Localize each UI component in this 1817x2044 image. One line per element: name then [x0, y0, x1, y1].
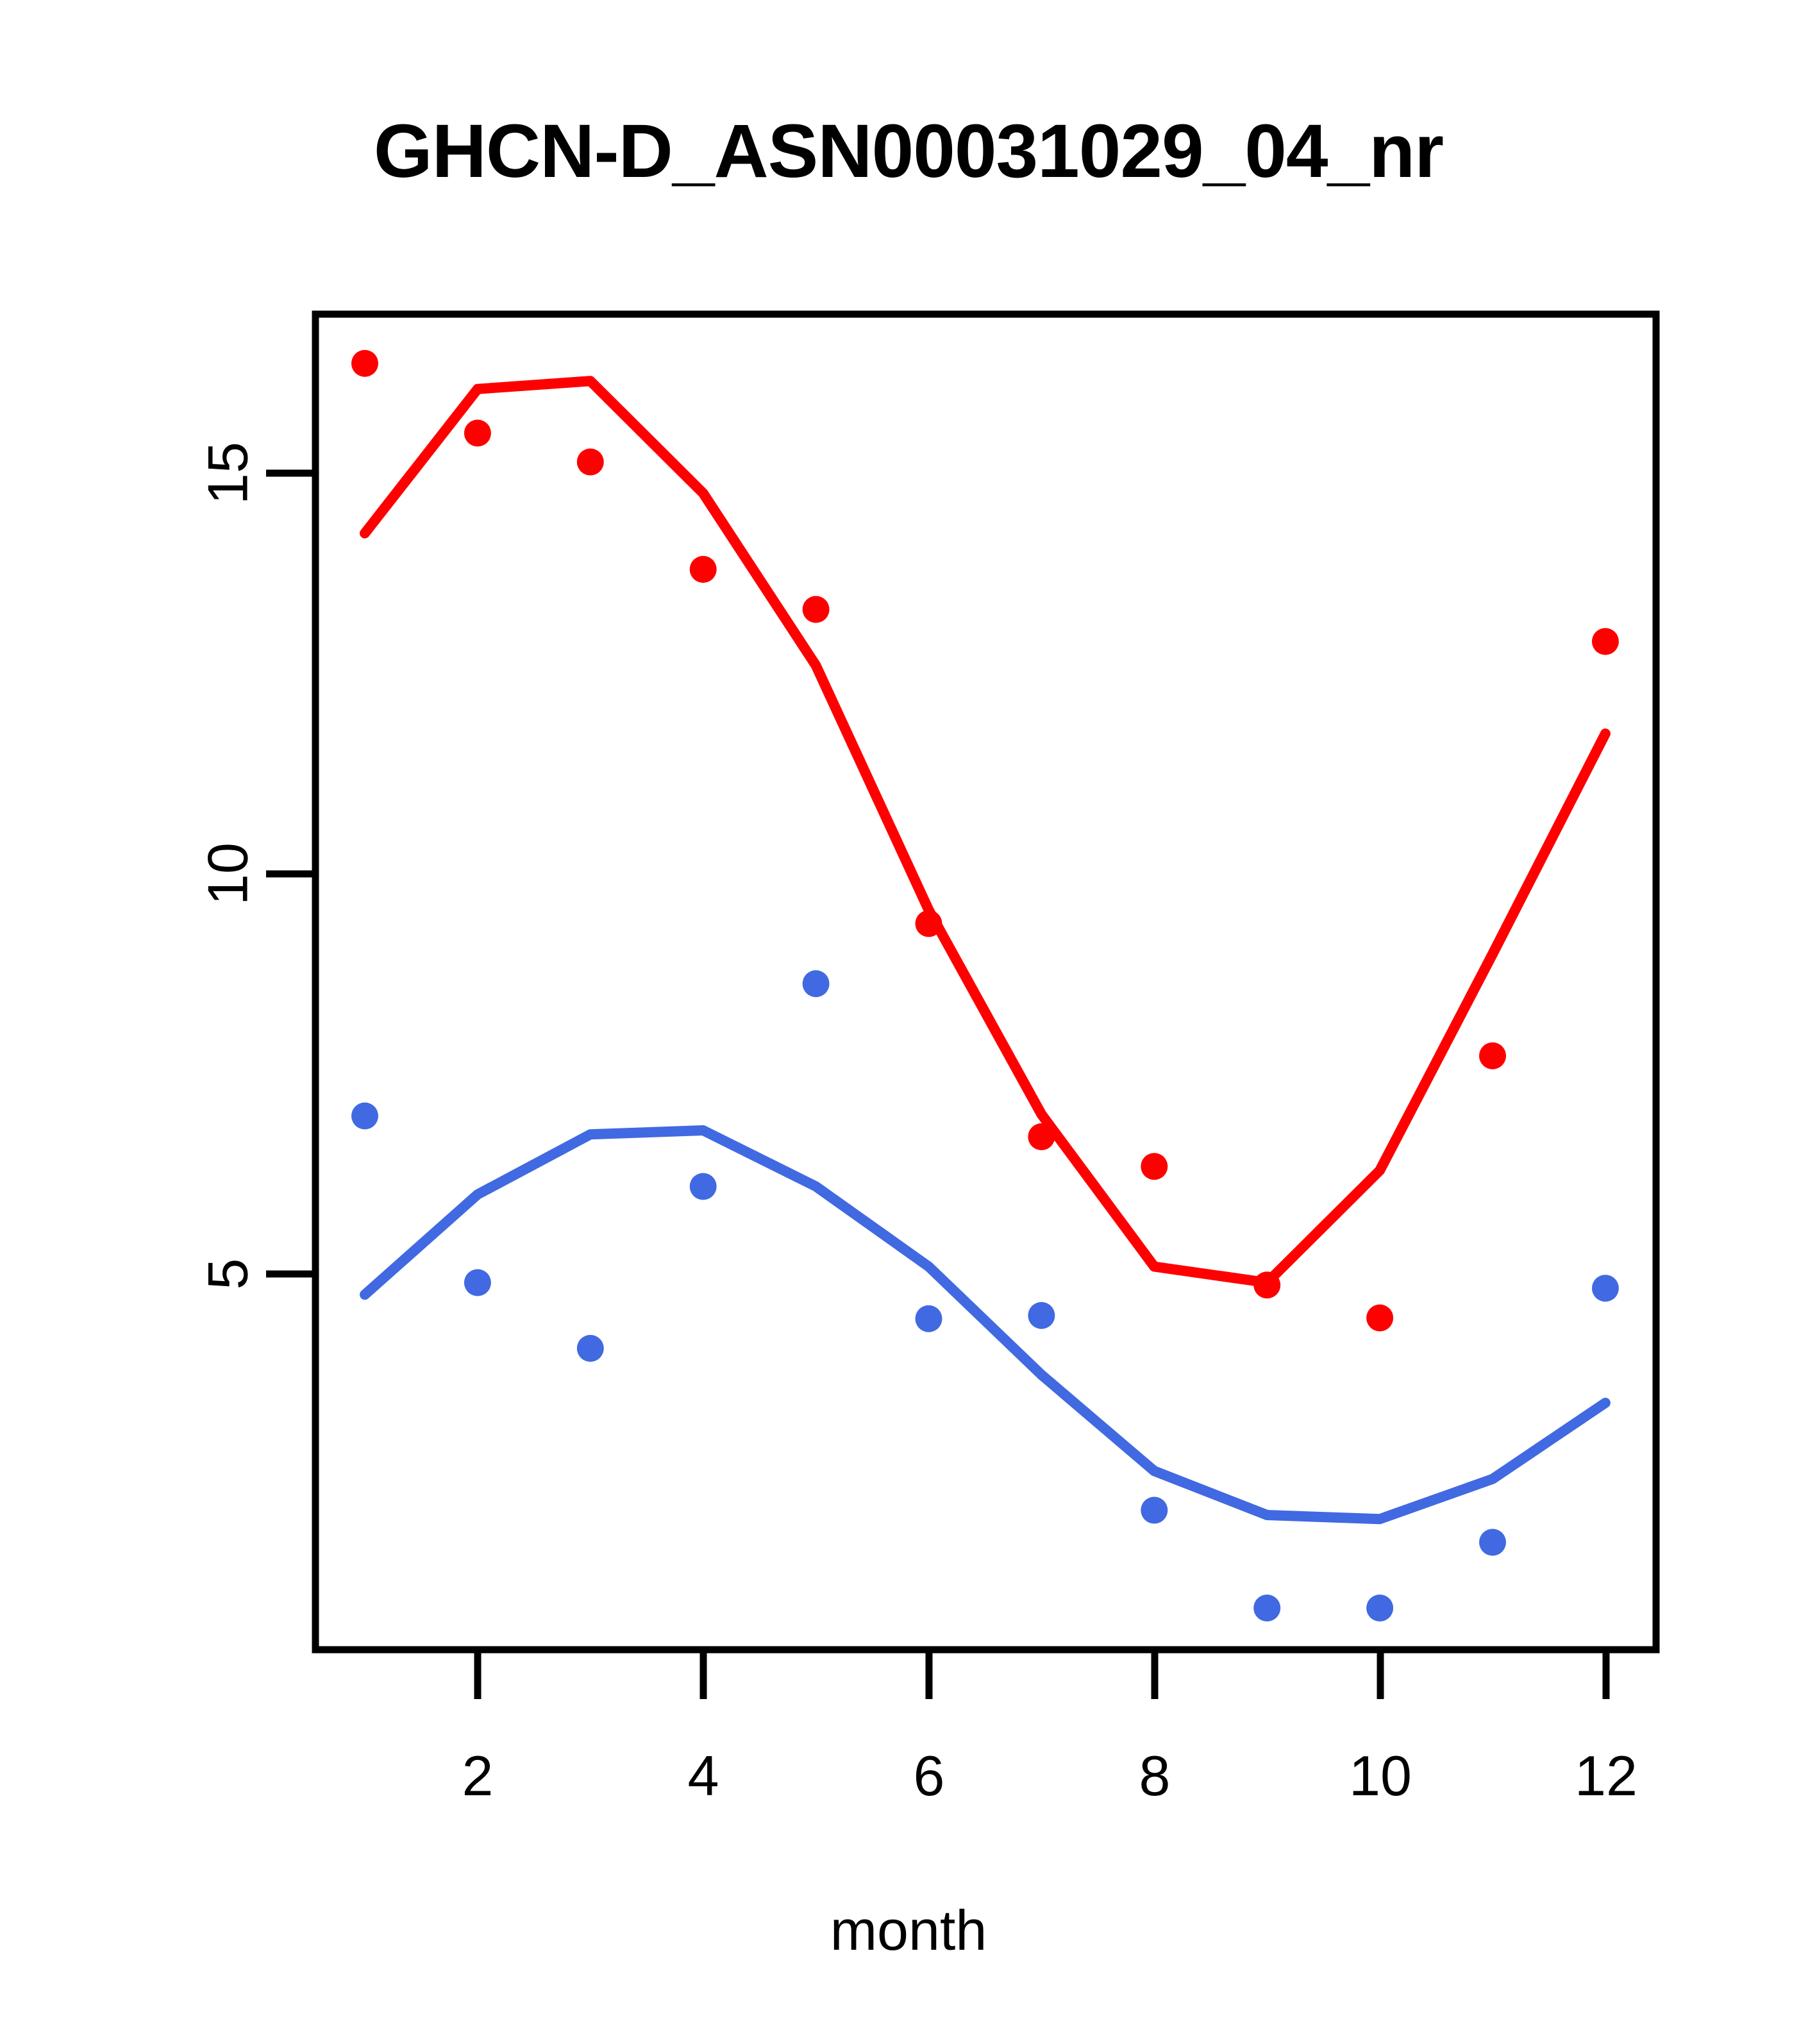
series-red-points	[351, 350, 1619, 1332]
data-point	[916, 910, 942, 937]
data-point	[1366, 1305, 1393, 1332]
data-point	[1479, 1043, 1506, 1069]
x-tick-label-0: 2	[462, 1744, 494, 1807]
data-point	[577, 1335, 604, 1362]
data-point	[1141, 1497, 1168, 1524]
x-tick-label-5: 12	[1575, 1744, 1637, 1807]
x-axis-tick-labels: 2 4 6 8 10 12	[462, 1744, 1637, 1807]
x-tick-label-3: 8	[1139, 1744, 1171, 1807]
data-point	[464, 420, 491, 447]
data-point	[1028, 1302, 1055, 1329]
y-axis-tick-labels: 5 10 15	[196, 442, 260, 1289]
x-tick-label-2: 6	[914, 1744, 945, 1807]
data-point	[1253, 1595, 1280, 1621]
red-line-path	[365, 381, 1605, 1282]
data-point	[1592, 1275, 1619, 1302]
y-tick-label-1: 10	[196, 842, 260, 905]
x-axis-label: month	[0, 1898, 1817, 1963]
series-red-line	[365, 381, 1605, 1282]
data-point	[351, 1103, 378, 1130]
data-point	[351, 350, 378, 377]
data-point	[803, 970, 830, 997]
y-axis-ticks	[266, 473, 315, 1274]
data-point	[1141, 1153, 1168, 1180]
x-tick-label-4: 10	[1349, 1744, 1412, 1807]
data-point	[1366, 1595, 1393, 1621]
plot-area: 2 4 6 8 10 12 5 10 15	[0, 0, 1817, 2044]
data-point	[464, 1269, 491, 1296]
data-point	[1479, 1529, 1506, 1556]
data-point	[690, 556, 717, 583]
data-point	[690, 1173, 717, 1200]
data-point	[577, 449, 604, 476]
plot-border	[315, 314, 1656, 1650]
x-tick-label-1: 4	[688, 1744, 719, 1807]
y-tick-label-0: 5	[196, 1259, 260, 1290]
chart-figure: GHCN-D_ASN00031029_04_nr 2 4 6 8 10 12	[0, 0, 1817, 2044]
series-blue-line	[365, 1130, 1605, 1519]
data-point	[1253, 1271, 1280, 1298]
data-point	[1028, 1123, 1055, 1150]
data-point	[803, 596, 830, 623]
data-point	[1592, 628, 1619, 655]
data-point	[916, 1305, 942, 1332]
y-tick-label-2: 15	[196, 442, 260, 505]
blue-line-path	[365, 1130, 1605, 1519]
x-axis-ticks	[478, 1650, 1606, 1699]
